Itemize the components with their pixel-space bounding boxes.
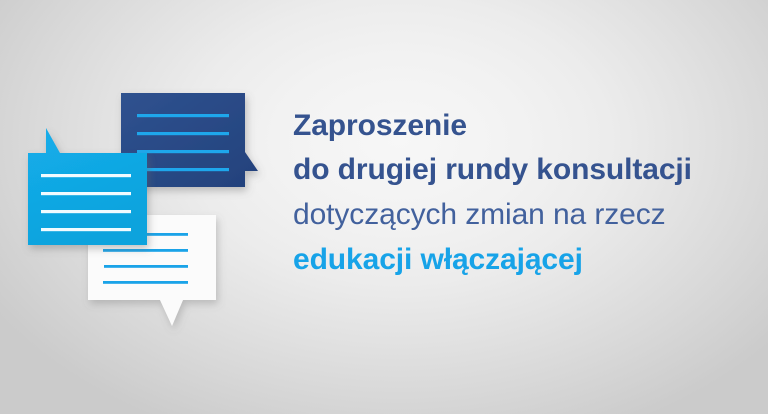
- headline-line-1: Zaproszenie: [293, 104, 763, 147]
- headline-line-4: edukacji włączającej: [293, 237, 763, 282]
- headline-line-3: dotyczących zmian na rzecz: [293, 192, 763, 237]
- headline-line-2: do drugiej rundy konsultacji: [293, 147, 763, 192]
- invitation-banner: Zaproszenie do drugiej rundy konsultacji…: [0, 0, 768, 414]
- speech-bubbles-artwork: [0, 0, 300, 414]
- headline-block: Zaproszenie do drugiej rundy konsultacji…: [293, 104, 763, 282]
